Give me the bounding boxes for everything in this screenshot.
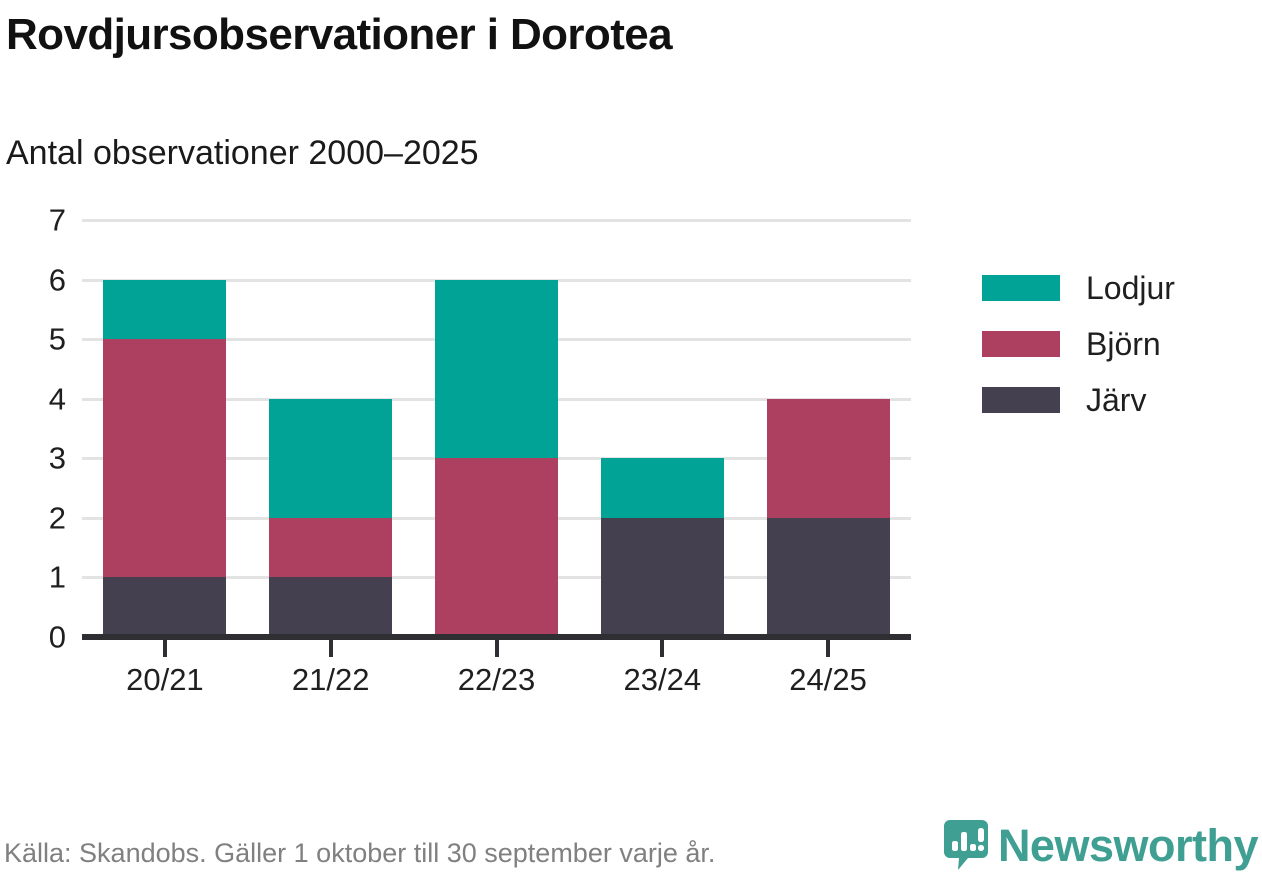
legend: LodjurBjörnJärv xyxy=(982,260,1175,428)
source-note: Källa: Skandobs. Gäller 1 oktober till 3… xyxy=(4,838,715,869)
bar-segment[interactable] xyxy=(435,458,558,637)
bar-stack[interactable] xyxy=(601,220,724,637)
x-tick-label: 22/23 xyxy=(458,662,536,698)
x-tick-label: 21/22 xyxy=(292,662,370,698)
bar-segment[interactable] xyxy=(103,280,226,340)
x-tick xyxy=(495,640,499,657)
legend-item-järv[interactable]: Järv xyxy=(982,372,1175,428)
legend-swatch-icon xyxy=(982,387,1060,413)
chart-subtitle: Antal observationer 2000–2025 xyxy=(6,134,479,173)
bar-segment[interactable] xyxy=(435,280,558,459)
x-tick xyxy=(660,640,664,657)
bar-stack[interactable] xyxy=(103,220,226,637)
bar-stack[interactable] xyxy=(269,220,392,637)
y-tick-label: 7 xyxy=(49,205,66,236)
bar-segment[interactable] xyxy=(269,399,392,518)
bar-segment[interactable] xyxy=(269,577,392,637)
y-tick-label: 5 xyxy=(49,324,66,355)
x-tick-label: 24/25 xyxy=(789,662,867,698)
x-tick-label: 23/24 xyxy=(624,662,702,698)
y-tick-label: 2 xyxy=(49,502,66,533)
bar-segment[interactable] xyxy=(103,577,226,637)
legend-label: Björn xyxy=(1086,326,1161,363)
legend-item-lodjur[interactable]: Lodjur xyxy=(982,260,1175,316)
bar-segment[interactable] xyxy=(767,518,890,637)
legend-label: Järv xyxy=(1086,382,1146,419)
y-tick-label: 4 xyxy=(49,383,66,414)
x-tick-label: 20/21 xyxy=(126,662,204,698)
bar-stack[interactable] xyxy=(767,220,890,637)
legend-label: Lodjur xyxy=(1086,270,1175,307)
x-tick xyxy=(826,640,830,657)
brand-name: Newsworthy xyxy=(998,823,1258,868)
page-title: Rovdjursobservationer i Dorotea xyxy=(6,10,672,60)
bar-segment[interactable] xyxy=(269,518,392,578)
newsworthy-bubble-bars-icon xyxy=(944,820,988,870)
newsworthy-brand: Newsworthy xyxy=(944,820,1258,870)
legend-swatch-icon xyxy=(982,331,1060,357)
bar-segment[interactable] xyxy=(601,458,724,518)
legend-item-björn[interactable]: Björn xyxy=(982,316,1175,372)
bar-segment[interactable] xyxy=(767,399,890,518)
y-tick-label: 3 xyxy=(49,443,66,474)
x-tick xyxy=(329,640,333,657)
y-tick-label: 1 xyxy=(49,562,66,593)
y-tick-label: 6 xyxy=(49,264,66,295)
bar-segment[interactable] xyxy=(103,339,226,577)
bar-series-layer xyxy=(82,220,911,637)
x-tick xyxy=(163,640,167,657)
bar-stack[interactable] xyxy=(435,220,558,637)
chart-page: Rovdjursobservationer i Dorotea Antal ob… xyxy=(0,0,1262,879)
y-axis: 01234567 xyxy=(0,200,82,670)
legend-swatch-icon xyxy=(982,275,1060,301)
bar-segment[interactable] xyxy=(601,518,724,637)
y-tick-label: 0 xyxy=(49,622,66,653)
